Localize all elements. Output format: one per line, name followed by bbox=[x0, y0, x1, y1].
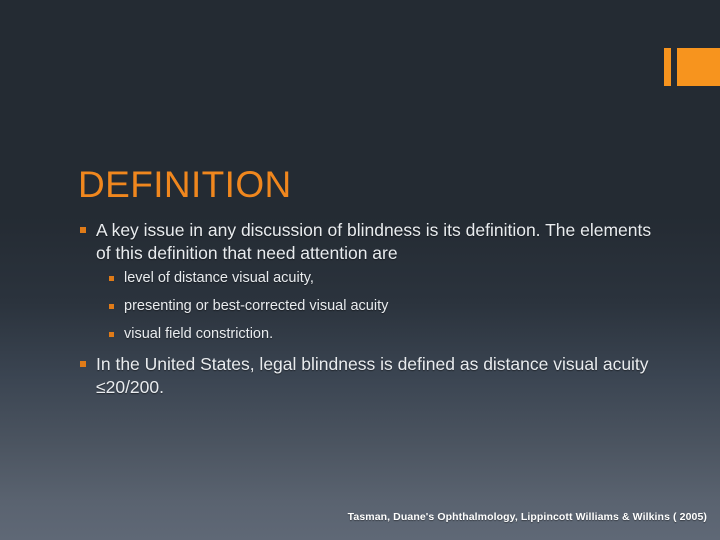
sub-bullet-text: visual field constriction. bbox=[124, 326, 273, 342]
sub-bullet-text: presenting or best-corrected visual acui… bbox=[124, 298, 388, 314]
bullet-text: A key issue in any discussion of blindne… bbox=[96, 220, 651, 263]
bullet-text: In the United States, legal blindness is… bbox=[96, 354, 649, 397]
bullet-item: A key issue in any discussion of blindne… bbox=[78, 219, 658, 265]
sub-bullet-item: level of distance visual acuity, bbox=[78, 269, 658, 288]
bullet-square-icon bbox=[109, 304, 114, 309]
bullet-square-icon bbox=[109, 332, 114, 337]
accent-bar-thin-icon bbox=[664, 48, 671, 86]
sub-bullet-list: level of distance visual acuity, present… bbox=[78, 269, 658, 344]
bullet-square-icon bbox=[109, 276, 114, 281]
slide: DEFINITION A key issue in any discussion… bbox=[0, 0, 720, 540]
bullet-square-icon bbox=[80, 227, 86, 233]
source-citation: Tasman, Duane's Ophthalmology, Lippincot… bbox=[0, 511, 707, 523]
bullet-item: In the United States, legal blindness is… bbox=[78, 353, 658, 399]
sub-bullet-item: visual field constriction. bbox=[78, 325, 658, 344]
accent-bar-wide-icon bbox=[677, 48, 720, 86]
sub-bullet-text: level of distance visual acuity, bbox=[124, 270, 314, 286]
page-title: DEFINITION bbox=[78, 163, 292, 207]
slide-body: A key issue in any discussion of blindne… bbox=[78, 219, 658, 400]
sub-bullet-item: presenting or best-corrected visual acui… bbox=[78, 297, 658, 316]
bullet-square-icon bbox=[80, 361, 86, 367]
